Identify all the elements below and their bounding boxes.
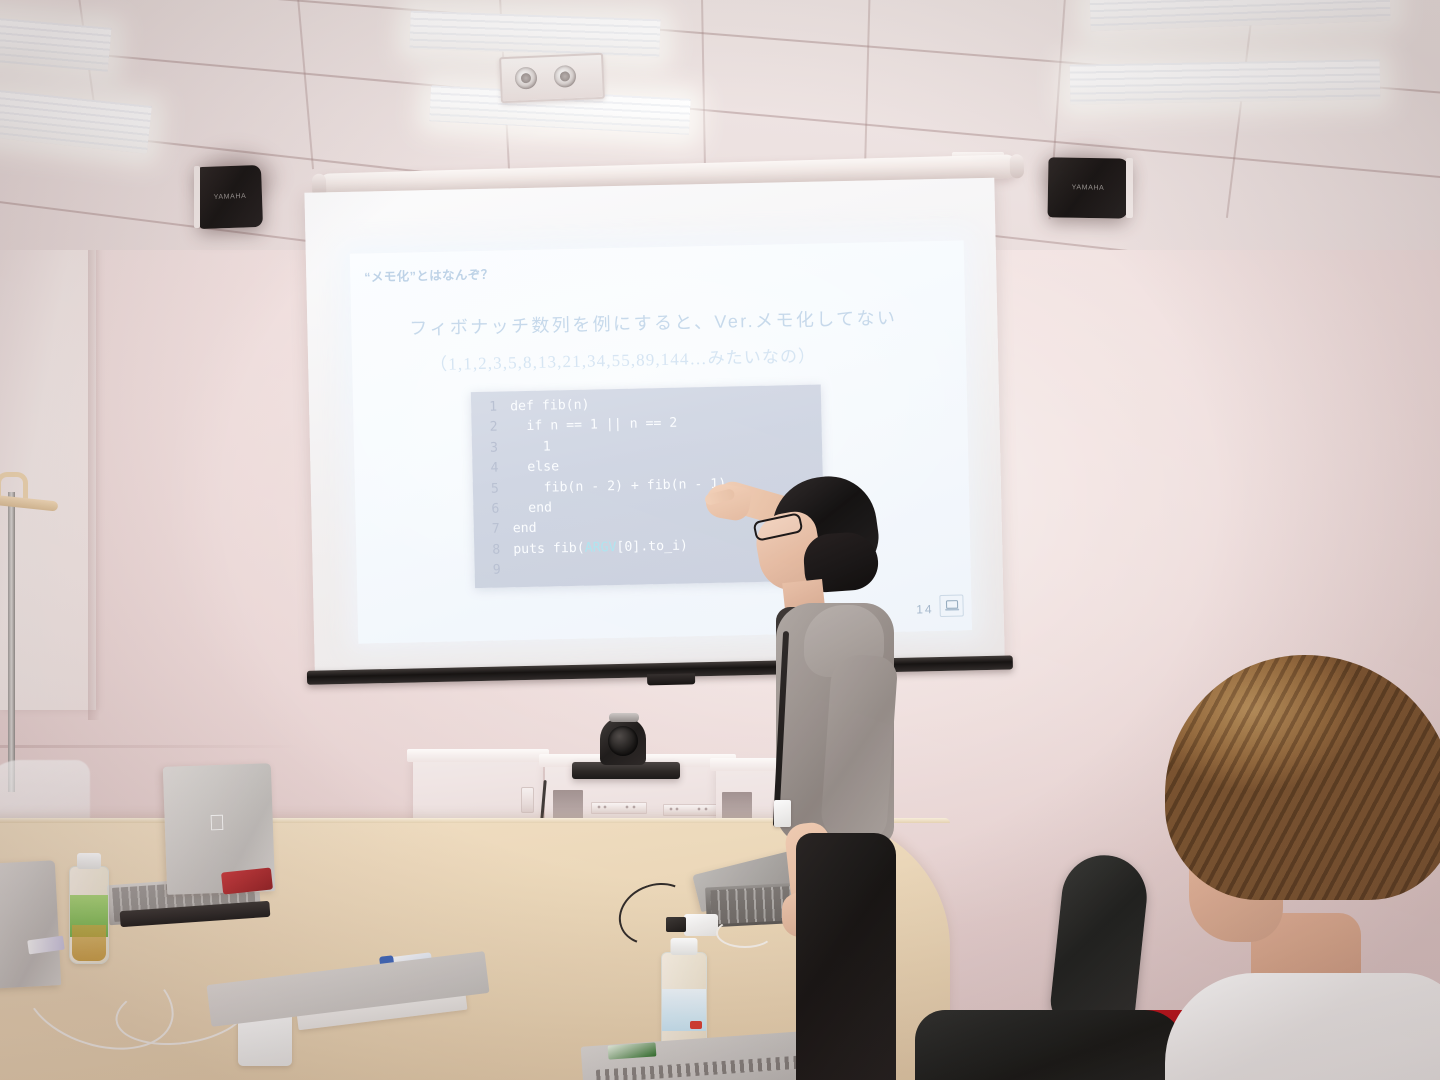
coat-hanger	[0, 470, 62, 518]
wall-seam	[0, 745, 300, 748]
code-line-text: end	[512, 500, 552, 516]
code-line-number: 7	[474, 520, 500, 541]
presenter-id-badge	[774, 800, 791, 827]
code-line-number: 4	[472, 459, 498, 480]
seated-viewer-person	[1155, 655, 1440, 1080]
code-line-text: if n == 1 || n == 2	[510, 416, 677, 435]
code-line-number: 8	[474, 540, 500, 561]
presenter-hand	[703, 481, 752, 522]
camera-lens	[608, 726, 638, 756]
code-line-text: fib(n - 2) + fib(n - 1)	[512, 476, 727, 496]
apple-logo-icon: 	[208, 812, 229, 837]
code-line-text: 1	[511, 439, 551, 455]
ceiling-light-right-lower	[1070, 59, 1381, 104]
slide-subheading: （1,1,2,3,5,8,13,21,34,55,89,144…みたいなの）	[430, 342, 817, 375]
code-line-text: puts fib(	[513, 541, 585, 558]
presenter-pointing-finger	[704, 488, 736, 506]
chair-seat	[915, 1010, 1185, 1080]
code-line-number: 9	[474, 561, 500, 582]
presenter-pants	[796, 833, 896, 1080]
spotlight-bulb-right	[553, 65, 576, 88]
presenter-person	[700, 455, 950, 1080]
photo-scene: YAMAHA YAMAHA “メモ化”とはなんぞ？ フィボナッチ数列を例にすると…	[0, 0, 1440, 1080]
code-line-number: 5	[473, 479, 499, 500]
spotlight-bulb-left	[515, 67, 538, 90]
code-line-number: 1	[471, 398, 497, 419]
coat-rack-pole	[8, 492, 15, 792]
slide-title: “メモ化”とはなんぞ？	[364, 264, 494, 286]
presenter-sleeve	[820, 653, 899, 845]
wall-speaker-right: YAMAHA	[1047, 157, 1128, 218]
code-line-text-tail: [0].to_i)	[616, 538, 688, 555]
code-token-argv: ARGV	[585, 540, 617, 556]
video-conference-camera	[600, 717, 646, 765]
code-line-text: end	[513, 521, 537, 537]
code-line-text: def fib(n)	[510, 398, 590, 415]
chair-backrest	[1048, 851, 1151, 1034]
code-line-number: 2	[471, 418, 497, 439]
speaker-brand-label: YAMAHA	[214, 193, 247, 201]
wall-speaker-left: YAMAHA	[197, 165, 263, 229]
screen-pull-handle[interactable]	[647, 673, 695, 685]
viewer-hair	[1165, 655, 1440, 900]
code-line-number: 6	[473, 500, 499, 521]
slide-heading: フィボナッチ数列を例にすると、Ver.メモ化してない	[409, 304, 897, 341]
code-line-number: 3	[472, 438, 498, 459]
speaker-brand-label-right: YAMAHA	[1072, 184, 1105, 192]
viewer-white-shirt	[1165, 973, 1440, 1080]
code-line-text: else	[511, 459, 559, 475]
ceiling-spotlight-housing	[499, 53, 605, 103]
